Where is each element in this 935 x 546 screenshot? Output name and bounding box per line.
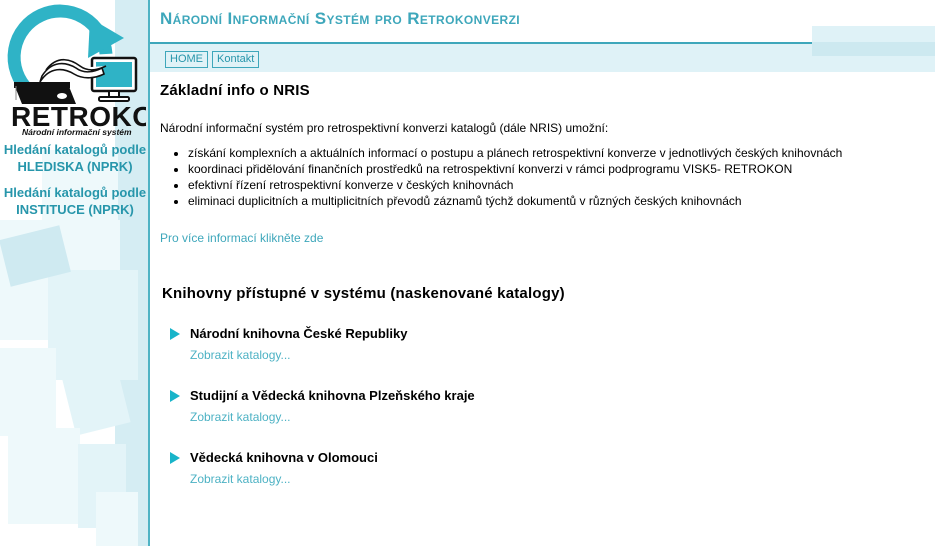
sidebar-nav: Hledání katalogů podle HLEDISKA (NPRK) H… — [0, 141, 150, 227]
sidebar-watermark-shape — [96, 492, 138, 546]
show-catalogs-link[interactable]: Zobrazit katalogy... — [190, 410, 291, 424]
show-catalogs-link[interactable]: Zobrazit katalogy... — [190, 472, 291, 486]
sidebar-item-hlediska-line1: Hledání katalogů podle — [4, 142, 146, 157]
navbar-decoration-strip — [812, 42, 935, 56]
triangle-bullet-icon — [170, 390, 180, 402]
intro-paragraph: Národní informační systém pro retrospekt… — [160, 121, 920, 135]
section-heading-basic-info: Základní info o NRIS — [160, 82, 920, 99]
library-entry: Národní knihovna České Republiky Zobrazi… — [160, 326, 920, 364]
list-item: eliminaci duplicitních a multiplicitních… — [188, 193, 920, 209]
library-name: Studijní a Vědecká knihovna Plzeňského k… — [190, 388, 475, 403]
nav-button-kontakt[interactable]: Kontakt — [212, 51, 259, 68]
sidebar-item-hlediska-line2: HLEDISKA (NPRK) — [17, 159, 132, 174]
sidebar-watermark-shape — [8, 428, 80, 524]
library-entry: Studijní a Vědecká knihovna Plzeňského k… — [160, 388, 920, 426]
sidebar-item-instituce[interactable]: Hledání katalogů podle INSTITUCE (NPRK) — [0, 184, 150, 218]
retrokon-logo: RETROKON Národní informační systém — [6, 4, 146, 136]
page-root: RETROKON Národní informační systém Hledá… — [0, 0, 935, 546]
benefits-list: získání komplexních a aktuálních informa… — [160, 145, 920, 209]
logo-tagline: Národní informační systém — [22, 127, 132, 136]
sidebar-item-hlediska[interactable]: Hledání katalogů podle HLEDISKA (NPRK) — [0, 141, 150, 175]
library-name: Vědecká knihovna v Olomouci — [190, 450, 378, 465]
more-info-link[interactable]: Pro více informací klikněte zde — [160, 231, 323, 245]
page-title: Národní Informační Systém pro Retrokonve… — [160, 9, 520, 29]
sidebar-right-border — [148, 0, 150, 546]
library-header: Národní knihovna České Republiky — [160, 326, 920, 341]
sidebar-item-instituce-line2: INSTITUCE (NPRK) — [16, 202, 134, 217]
list-item: efektivní řízení retrospektivní konverze… — [188, 177, 920, 193]
list-item: získání komplexních a aktuálních informa… — [188, 145, 920, 161]
triangle-bullet-icon — [170, 452, 180, 464]
library-header: Studijní a Vědecká knihovna Plzeňského k… — [160, 388, 920, 403]
section-heading-libraries: Knihovny přístupné v systému (naskenovan… — [162, 285, 920, 302]
sidebar-item-instituce-line1: Hledání katalogů podle — [4, 185, 146, 200]
library-name: Národní knihovna České Republiky — [190, 326, 407, 341]
nav-button-home[interactable]: HOME — [165, 51, 208, 68]
sidebar: RETROKON Národní informační systém Hledá… — [0, 0, 150, 546]
library-entry: Vědecká knihovna v Olomouci Zobrazit kat… — [160, 450, 920, 488]
sidebar-watermark-shape — [0, 348, 56, 436]
main-content: Základní info o NRIS Národní informační … — [160, 82, 920, 488]
triangle-bullet-icon — [170, 328, 180, 340]
show-catalogs-link[interactable]: Zobrazit katalogy... — [190, 348, 291, 362]
library-header: Vědecká knihovna v Olomouci — [160, 450, 920, 465]
list-item: koordinaci přidělování finančních prostř… — [188, 161, 920, 177]
